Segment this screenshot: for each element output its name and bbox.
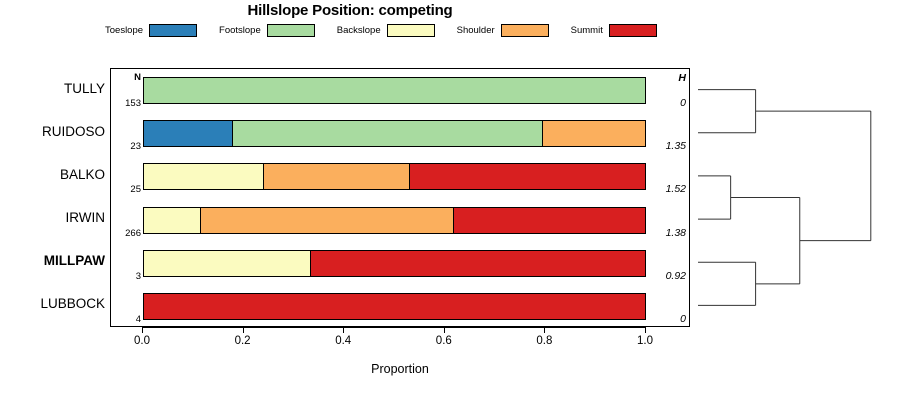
bar-segment-summit	[410, 164, 645, 189]
stacked-bar	[143, 250, 646, 277]
bar-segment-summit	[311, 251, 645, 276]
x-axis-tick	[645, 327, 646, 333]
legend-label: Footslope	[219, 25, 261, 36]
bar-segment-footslope	[233, 121, 544, 146]
x-axis-tick-label: 0.4	[323, 335, 363, 347]
bar-row: 30.92	[111, 242, 689, 285]
x-axis-tick-label: 0.0	[122, 335, 162, 347]
legend-label: Toeslope	[105, 25, 143, 36]
bar-row: 231.35	[111, 112, 689, 155]
y-axis-label-millpaw: MILLPAW	[5, 253, 105, 268]
stacked-bar	[143, 293, 646, 320]
n-value: 23	[113, 141, 141, 152]
x-axis-tick-label: 0.6	[424, 335, 464, 347]
stacked-bar	[143, 120, 646, 147]
x-axis-tick-label: 0.2	[223, 335, 263, 347]
bar-segment-backslope	[144, 208, 201, 233]
x-axis-line	[142, 327, 645, 328]
bar-segment-summit	[144, 294, 645, 319]
bar-segment-toeslope	[144, 121, 233, 146]
y-axis-label-balko: BALKO	[5, 167, 105, 182]
n-value: 153	[113, 98, 141, 109]
bar-row: 1530	[111, 69, 689, 112]
n-value: 25	[113, 184, 141, 195]
h-value: 0	[642, 313, 686, 325]
bar-segment-shoulder	[264, 164, 409, 189]
n-value: 4	[113, 314, 141, 325]
bar-segment-shoulder	[201, 208, 454, 233]
legend-label: Backslope	[337, 25, 381, 36]
bar-segment-shoulder	[543, 121, 645, 146]
legend-swatch	[501, 24, 549, 37]
y-axis-label-lubbock: LUBBOCK	[5, 296, 105, 311]
x-axis-tick	[142, 327, 143, 333]
h-value: 1.52	[642, 183, 686, 195]
bar-row: 2661.38	[111, 199, 689, 242]
legend-item-shoulder: Shoulder	[457, 24, 549, 37]
x-axis-tick	[243, 327, 244, 333]
y-axis-label-irwin: IRWIN	[5, 210, 105, 225]
bar-row: 40	[111, 285, 689, 328]
x-axis-tick	[444, 327, 445, 333]
y-axis-label-ruidoso: RUIDOSO	[5, 124, 105, 139]
n-value: 3	[113, 271, 141, 282]
bar-segment-backslope	[144, 164, 264, 189]
x-axis-tick-label: 0.8	[524, 335, 564, 347]
x-axis: 0.00.20.40.60.81.0	[110, 327, 690, 357]
n-value: 266	[113, 228, 141, 239]
h-value: 0.92	[642, 270, 686, 282]
h-value: 1.35	[642, 140, 686, 152]
legend-swatch	[267, 24, 315, 37]
legend: Toeslope Footslope Backslope Shoulder Su…	[105, 24, 795, 37]
plot-area: N H 1530231.35251.522661.3830.9240	[110, 68, 690, 327]
legend-item-backslope: Backslope	[337, 24, 435, 37]
legend-swatch	[609, 24, 657, 37]
legend-label: Shoulder	[457, 25, 495, 36]
bar-segment-summit	[454, 208, 645, 233]
bar-row: 251.52	[111, 155, 689, 198]
x-axis-tick	[343, 327, 344, 333]
legend-item-summit: Summit	[571, 24, 657, 37]
bar-segment-backslope	[144, 251, 311, 276]
x-axis-tick	[544, 327, 545, 333]
page-title: Hillslope Position: competing	[0, 2, 700, 19]
stacked-bar	[143, 207, 646, 234]
y-axis-labels: TULLYRUIDOSOBALKOIRWINMILLPAWLUBBOCK	[0, 68, 105, 327]
legend-item-footslope: Footslope	[219, 24, 315, 37]
x-axis-tick-label: 1.0	[625, 335, 665, 347]
legend-item-toeslope: Toeslope	[105, 24, 197, 37]
y-axis-label-tully: TULLY	[5, 81, 105, 96]
stacked-bar	[143, 163, 646, 190]
legend-swatch	[387, 24, 435, 37]
dendrogram	[690, 68, 900, 327]
legend-label: Summit	[571, 25, 603, 36]
h-value: 1.38	[642, 227, 686, 239]
stacked-bar	[143, 77, 646, 104]
x-axis-title: Proportion	[110, 362, 690, 376]
bar-segment-footslope	[144, 78, 645, 103]
h-value: 0	[642, 97, 686, 109]
legend-swatch	[149, 24, 197, 37]
